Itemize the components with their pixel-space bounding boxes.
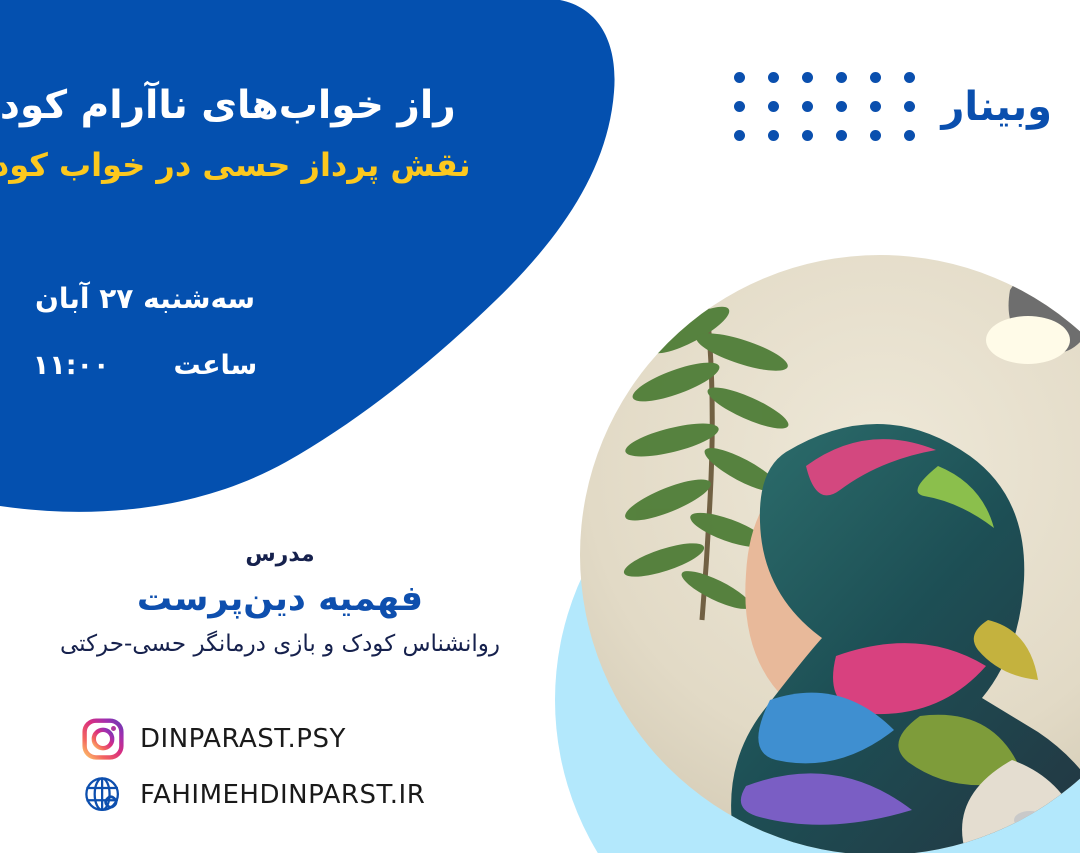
grid-dot bbox=[870, 101, 881, 112]
headline-group: راز خواب‌های ناآرام کودک نقش پرداز حسی د… bbox=[0, 82, 500, 185]
webinar-label: وبینار bbox=[941, 87, 1052, 127]
grid-dot bbox=[904, 130, 915, 141]
grid-dot bbox=[904, 101, 915, 112]
blue-blob-shape bbox=[0, 0, 615, 512]
contact-row-website[interactable]: FAHIMEHDINPARST.IR bbox=[82, 774, 425, 816]
headline-main: راز خواب‌های ناآرام کودک bbox=[0, 82, 500, 131]
dot-grid-decoration bbox=[734, 72, 915, 141]
event-time-row: ساعت ۱۱:۰۰ bbox=[20, 350, 270, 382]
presenter-role: مدرس bbox=[20, 542, 540, 568]
grid-dot bbox=[768, 72, 779, 83]
grid-dot bbox=[734, 72, 745, 83]
schedule-group: سه‌شنبه ۲۷ آبان ساعت ۱۱:۰۰ bbox=[20, 282, 270, 382]
grid-dot bbox=[768, 101, 779, 112]
contact-row-instagram[interactable]: DINPARAST.PSY bbox=[82, 718, 425, 760]
grid-dot bbox=[768, 130, 779, 141]
presenter-name: فهمیه دین‌پرست bbox=[20, 578, 540, 620]
globe-link-icon bbox=[82, 774, 124, 816]
webinar-header: وبینار bbox=[734, 72, 1052, 141]
grid-dot bbox=[904, 72, 915, 83]
event-date: سه‌شنبه ۲۷ آبان bbox=[20, 282, 270, 316]
grid-dot bbox=[836, 101, 847, 112]
presenter-group: مدرس فهمیه دین‌پرست روانشناس کودک و بازی… bbox=[20, 542, 540, 660]
grid-dot bbox=[802, 130, 813, 141]
grid-dot bbox=[870, 130, 881, 141]
instagram-handle: DINPARAST.PSY bbox=[140, 726, 346, 752]
grid-dot bbox=[836, 72, 847, 83]
presenter-credentials: روانشناس کودک و بازی درمانگر حسی-حرکتی bbox=[20, 630, 540, 660]
webinar-poster: وبینار راز خواب‌های ناآرام کودک نقش پردا… bbox=[0, 0, 1080, 853]
grid-dot bbox=[802, 72, 813, 83]
instagram-icon bbox=[82, 718, 124, 760]
grid-dot bbox=[734, 130, 745, 141]
time-value: ۱۱:۰۰ bbox=[33, 350, 110, 382]
grid-dot bbox=[734, 101, 745, 112]
grid-dot bbox=[870, 72, 881, 83]
website-url: FAHIMEHDINPARST.IR bbox=[140, 782, 425, 808]
contact-list: DINPARAST.PSY FAHIMEHDINPARST.IR bbox=[82, 718, 425, 816]
grid-dot bbox=[836, 130, 847, 141]
time-label: ساعت bbox=[174, 350, 258, 382]
headline-sub: نقش پرداز حسی در خواب کودک bbox=[0, 145, 500, 185]
grid-dot bbox=[802, 101, 813, 112]
